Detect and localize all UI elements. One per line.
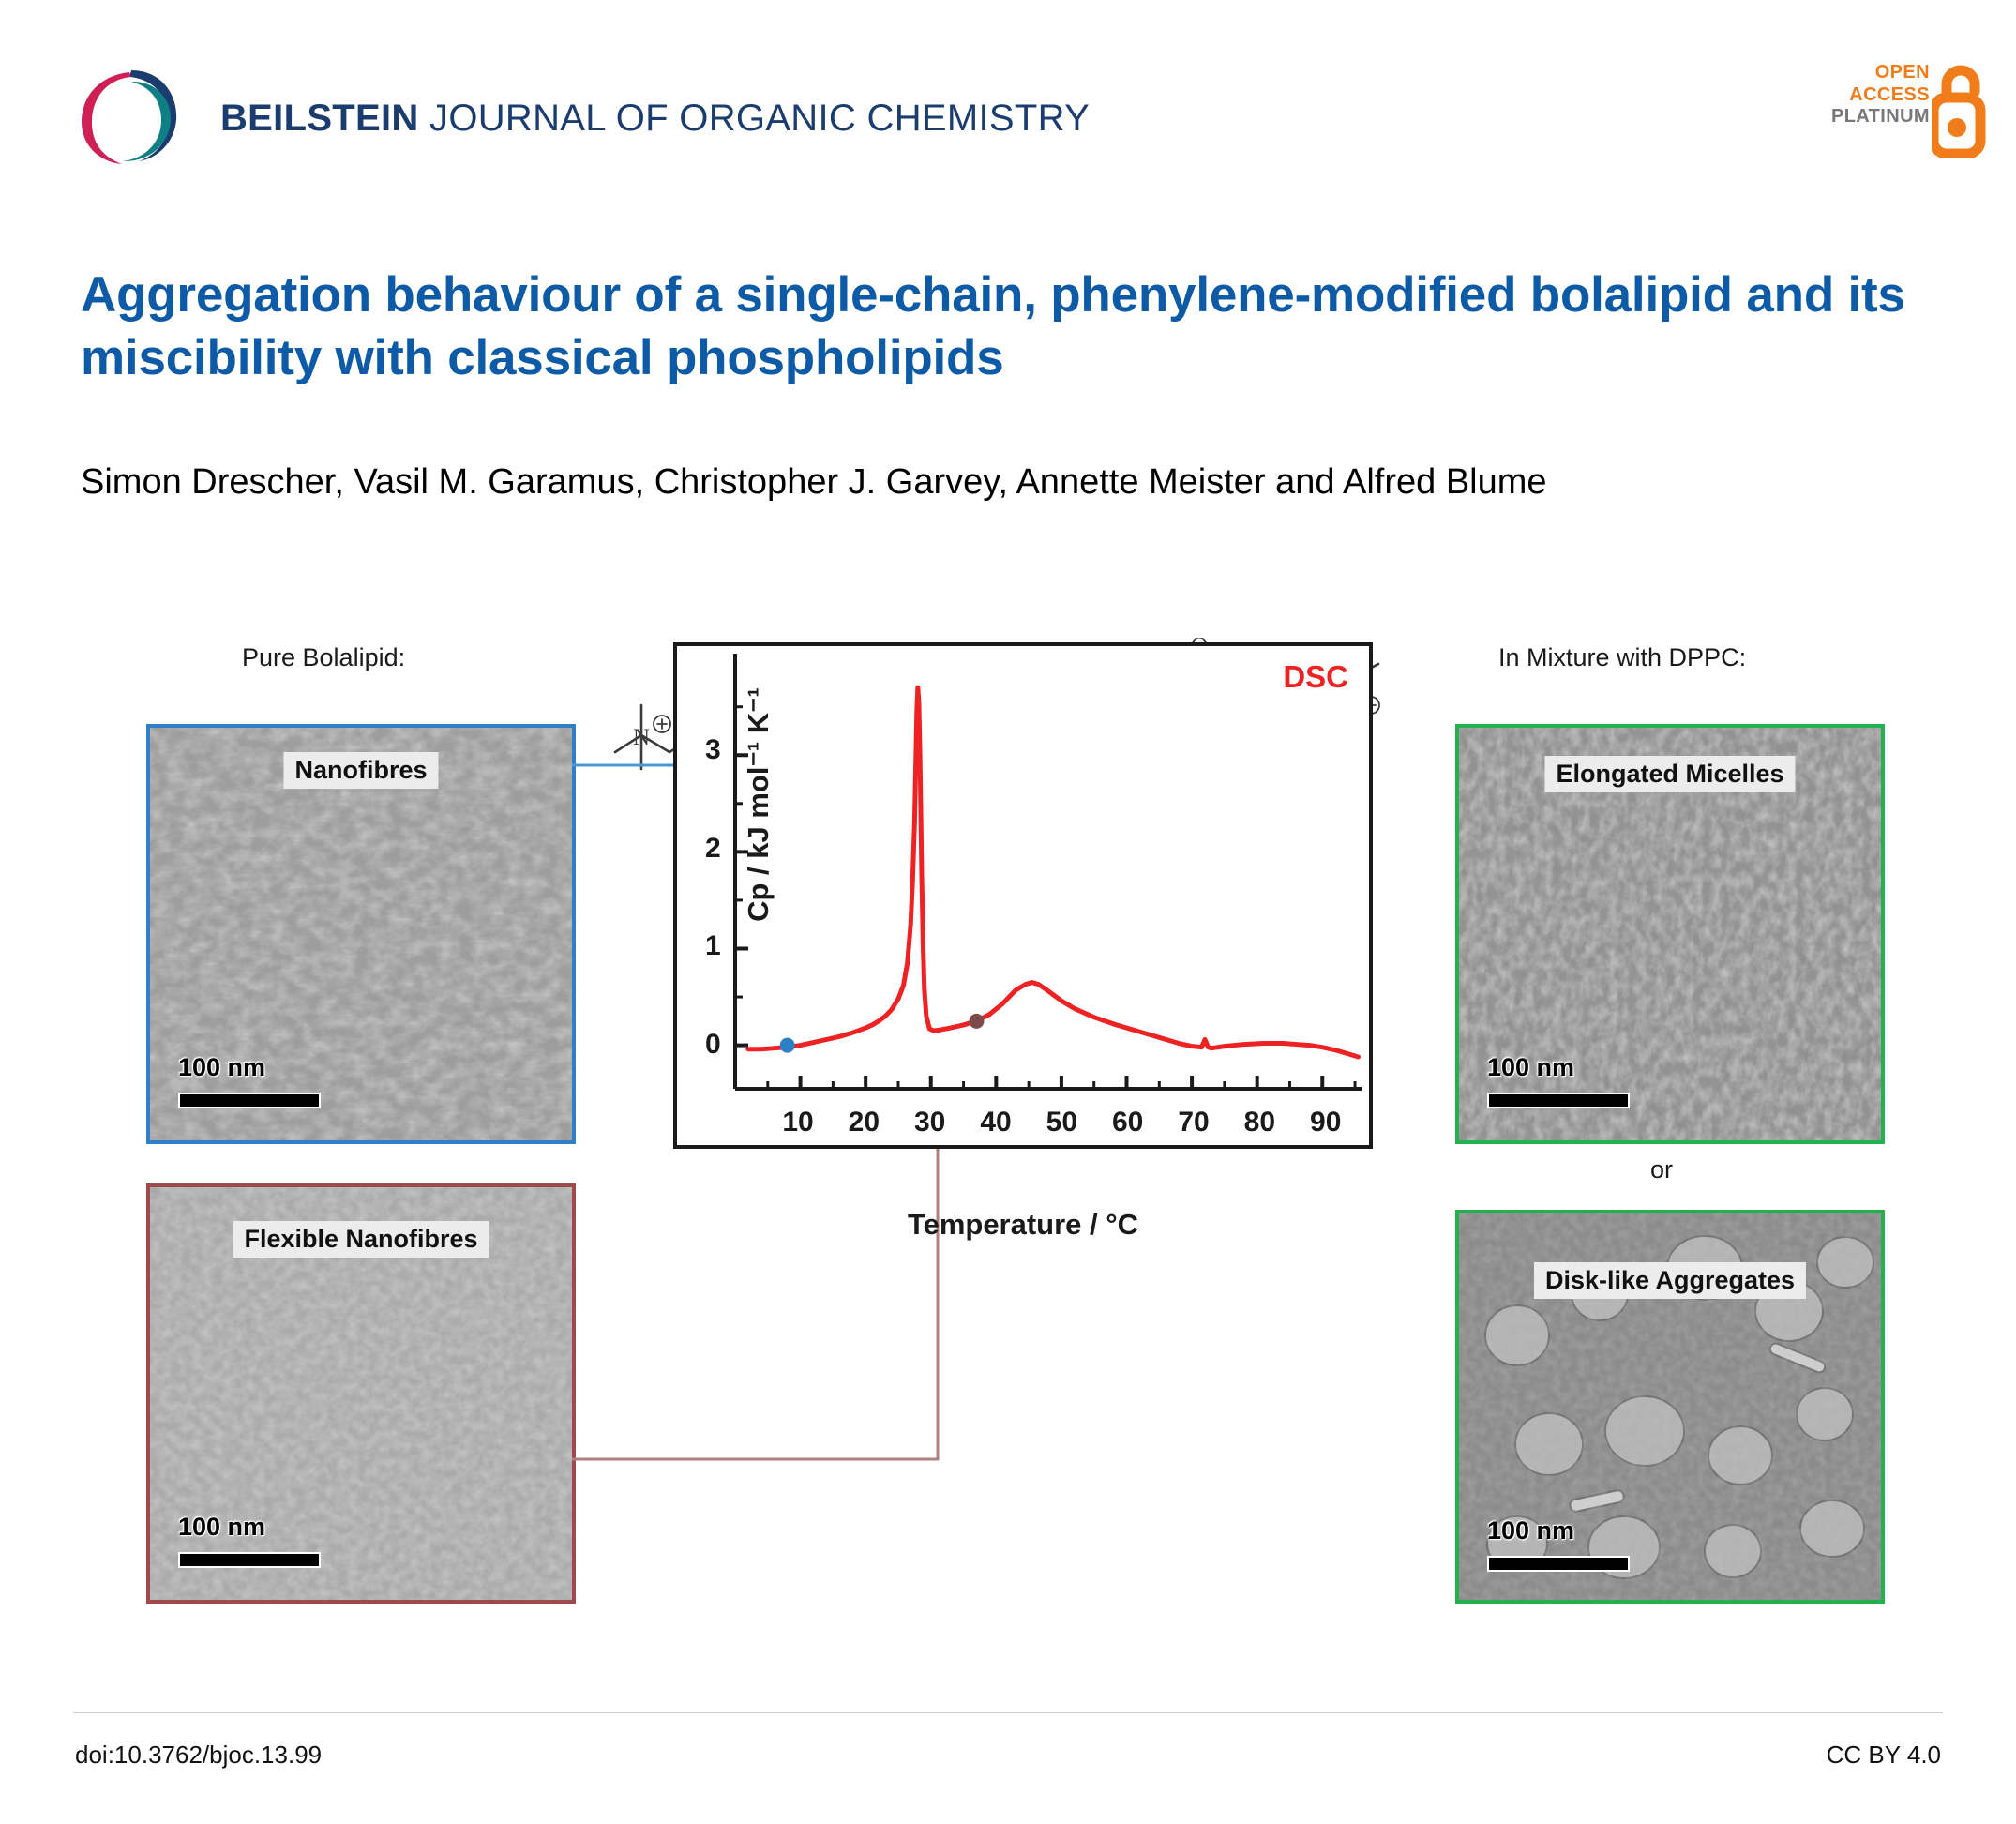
y-tick-1: 1 — [684, 930, 721, 962]
dsc-curve-svg — [677, 646, 1369, 1145]
oa-line-platinum: PLATINUM — [1831, 106, 1930, 128]
x-tick-10: 10 — [770, 1107, 826, 1138]
page-title: Aggregation behaviour of a single-chain,… — [81, 264, 1947, 390]
page-header: BEILSTEIN JOURNAL OF ORGANIC CHEMISTRY O… — [0, 0, 2016, 188]
x-tick-20: 20 — [835, 1107, 892, 1138]
x-tick-30: 30 — [902, 1107, 958, 1138]
y-tick-2: 2 — [684, 833, 721, 865]
x-axis-label: Temperature / °C — [673, 1208, 1373, 1242]
x-tick-70: 70 — [1166, 1107, 1222, 1138]
doi-text: doi:10.3762/bjoc.13.99 — [75, 1741, 322, 1770]
open-access-badge-text: OPEN ACCESS PLATINUM — [1831, 62, 1930, 128]
footer-divider — [73, 1712, 1943, 1713]
journal-title-bold: BEILSTEIN — [220, 98, 419, 139]
y-tick-3: 3 — [684, 734, 721, 766]
x-tick-60: 60 — [1100, 1107, 1156, 1138]
x-tick-50: 50 — [1033, 1107, 1090, 1138]
open-padlock-icon — [1932, 60, 1990, 158]
oa-line-access: ACCESS — [1831, 84, 1930, 107]
dsc-plot[interactable]: DSC — [673, 642, 1373, 1149]
graphical-abstract: Pure Bolalipid: In Mixture with DPPC: Na… — [0, 647, 2016, 1669]
x-tick-80: 80 — [1231, 1107, 1287, 1138]
journal-title: BEILSTEIN JOURNAL OF ORGANIC CHEMISTRY — [220, 98, 1090, 140]
y-axis-label: Cp / kJ mol⁻¹ K⁻¹ — [742, 650, 775, 959]
author-list: Simon Drescher, Vasil M. Garamus, Christ… — [81, 458, 1947, 508]
x-tick-40: 40 — [968, 1107, 1024, 1138]
oa-line-open: OPEN — [1831, 62, 1930, 84]
license-text: CC BY 4.0 — [1827, 1741, 1941, 1770]
journal-title-light: JOURNAL OF ORGANIC CHEMISTRY — [419, 98, 1090, 139]
x-tick-90: 90 — [1298, 1107, 1354, 1138]
beilstein-swirl-logo — [73, 64, 184, 169]
y-tick-0: 0 — [684, 1029, 721, 1061]
